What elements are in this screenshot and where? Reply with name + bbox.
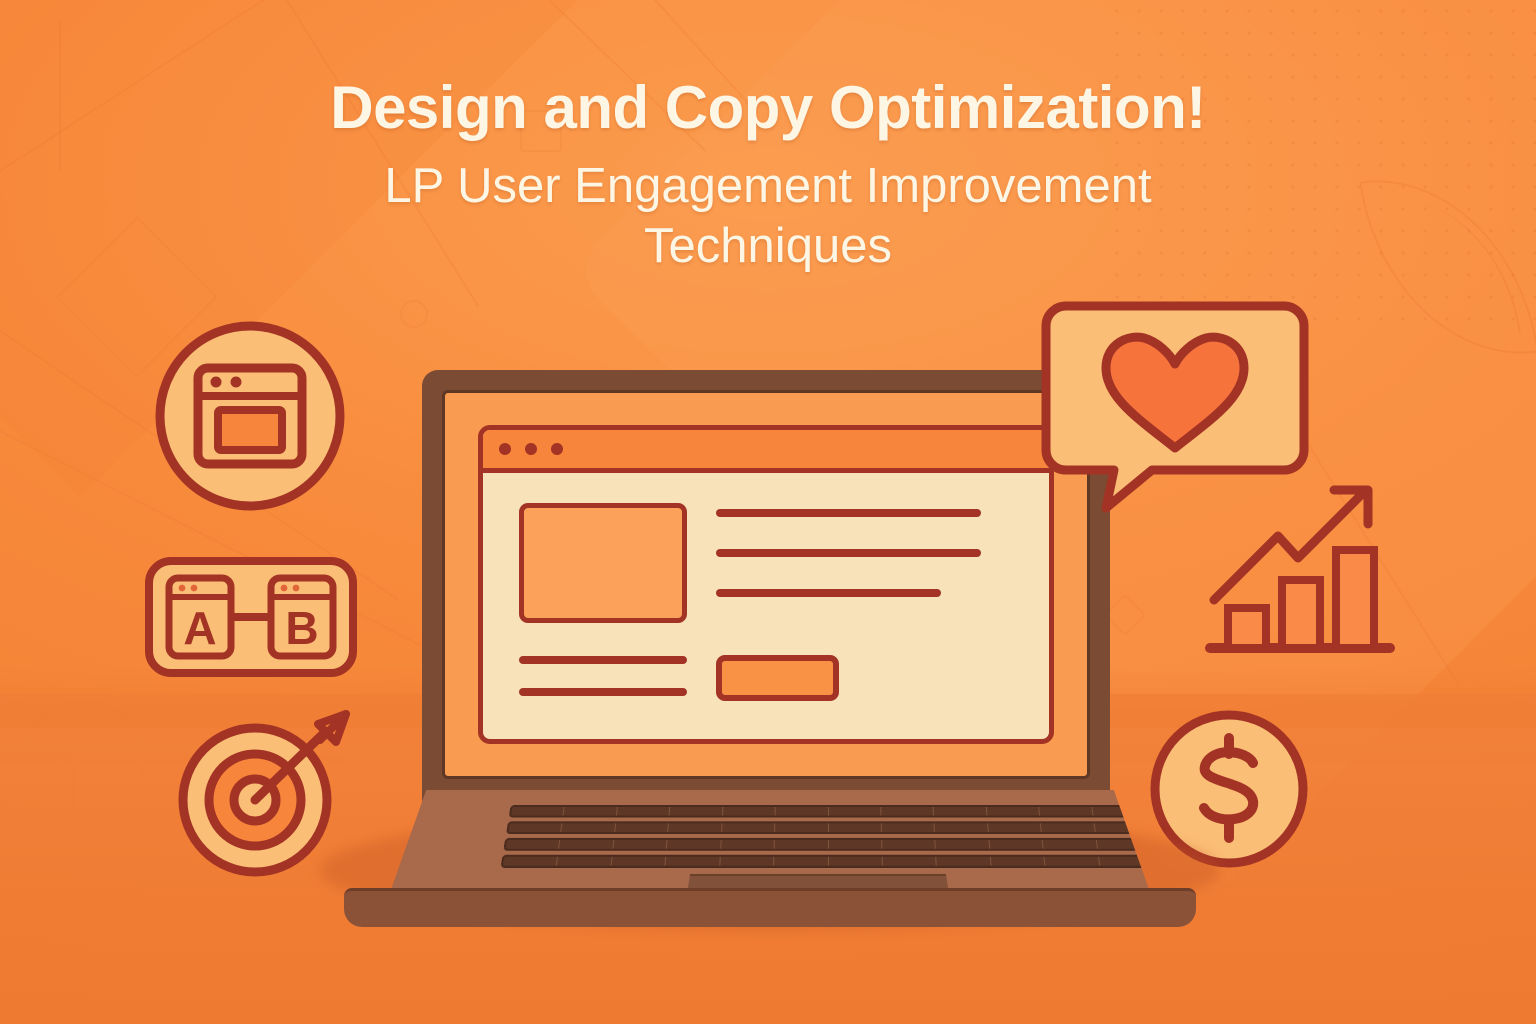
ab-test-icon: A B	[144, 556, 358, 678]
window-dot-maximize[interactable]	[551, 443, 563, 455]
browser-window-icon	[152, 318, 348, 514]
keyboard-row-4[interactable]	[500, 855, 1155, 868]
headline-line-1	[716, 509, 981, 517]
page-subtitle-line-2: Techniques	[0, 217, 1536, 277]
keyboard-row-1[interactable]	[509, 805, 1148, 817]
laptop-keyboard[interactable]	[501, 805, 1155, 864]
window-dot-minimize[interactable]	[525, 443, 537, 455]
keyboard-row-2[interactable]	[506, 821, 1150, 834]
page-subtitle: LP User Engagement Improvement Technique…	[0, 157, 1536, 277]
background-circle-1	[400, 300, 428, 328]
headline-line-3	[716, 589, 941, 597]
browser-title-bar	[483, 430, 1049, 473]
laptop-screen	[442, 390, 1090, 779]
ab-test-label-a: A	[183, 602, 216, 654]
page-title: Design and Copy Optimization!	[0, 76, 1536, 139]
heart-speech-bubble-icon	[1040, 300, 1310, 515]
heading-group: Design and Copy Optimization! LP User En…	[0, 76, 1536, 277]
window-dot-close[interactable]	[499, 443, 511, 455]
browser-window-controls	[499, 443, 563, 455]
hero-image-placeholder	[519, 503, 687, 623]
keyboard-row-3[interactable]	[503, 838, 1152, 851]
body-line-1	[519, 656, 687, 664]
headline-line-2	[716, 549, 981, 557]
landing-page-content	[483, 473, 1049, 739]
laptop-front-edge	[344, 888, 1196, 927]
body-line-2	[519, 688, 687, 696]
browser-mockup	[478, 425, 1054, 744]
laptop-deck	[388, 790, 1152, 898]
banner-canvas: Design and Copy Optimization! LP User En…	[0, 0, 1536, 1024]
cta-button[interactable]	[716, 655, 839, 701]
ab-test-label-b: B	[285, 602, 318, 654]
laptop-lid	[422, 370, 1110, 805]
page-subtitle-line-1: LP User Engagement Improvement	[0, 157, 1536, 217]
laptop-base	[330, 790, 1210, 920]
